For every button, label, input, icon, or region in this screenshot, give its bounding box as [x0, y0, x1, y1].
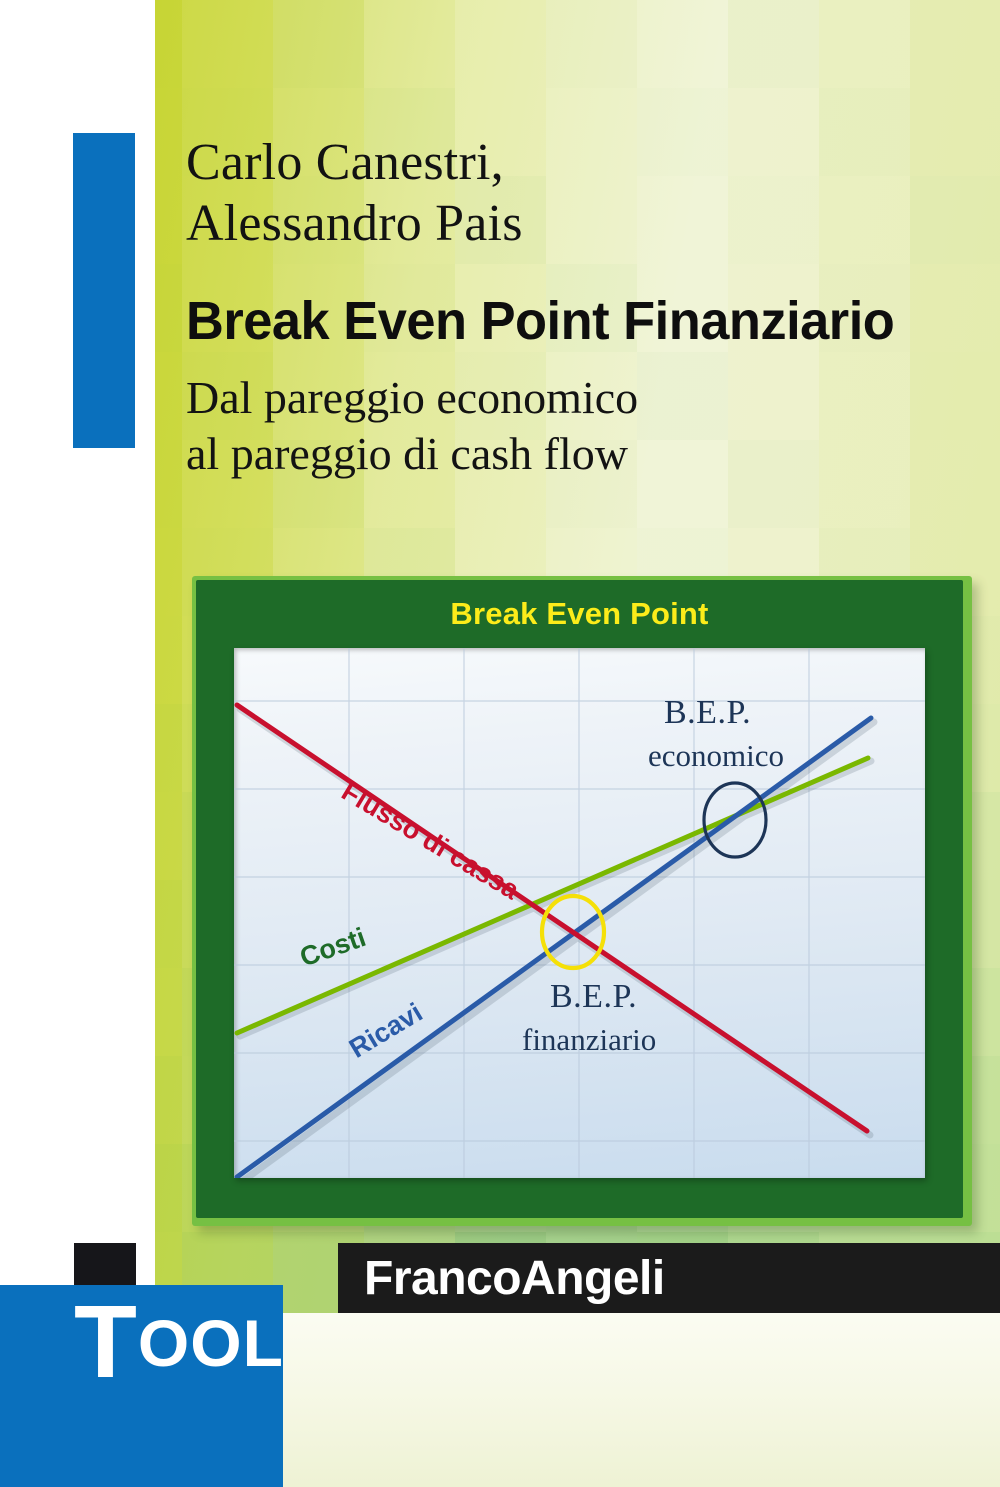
bep-finanziario-label-line2: finanziario: [522, 1022, 656, 1058]
subtitle-line-1: Dal pareggio economico: [186, 370, 976, 426]
book-title: Break Even Point Finanziario: [186, 294, 952, 349]
chart-title: Break Even Point: [196, 596, 963, 632]
book-subtitle: Dal pareggio economico al pareggio di ca…: [186, 370, 976, 482]
bottom-white-panel: [283, 1313, 1000, 1487]
chart-svg: [234, 648, 925, 1178]
tools-logo-cap-letter: T: [74, 1284, 138, 1399]
chart-panel: Break Even Point: [196, 580, 963, 1218]
authors: Carlo Canestri, Alessandro Pais: [186, 133, 946, 255]
chart-plot-area: Flusso di cassa Costi Ricavi B.E.P. econ…: [234, 648, 925, 1178]
publisher-name: FrancoAngeli: [364, 1250, 665, 1308]
bep-economico-label-line2: economico: [648, 738, 784, 774]
blue-accent-rule: [73, 133, 135, 448]
bep-economico-label-line1: B.E.P.: [664, 694, 751, 732]
author-line-2: Alessandro Pais: [186, 194, 946, 255]
author-line-1: Carlo Canestri,: [186, 133, 946, 194]
book-cover: TOOLS Carlo Canestri, Alessandro Pais Br…: [0, 0, 1000, 1487]
subtitle-line-2: al pareggio di cash flow: [186, 426, 976, 482]
bep-finanziario-label-line1: B.E.P.: [550, 978, 637, 1016]
series-vertical-label: [57, 800, 117, 1230]
